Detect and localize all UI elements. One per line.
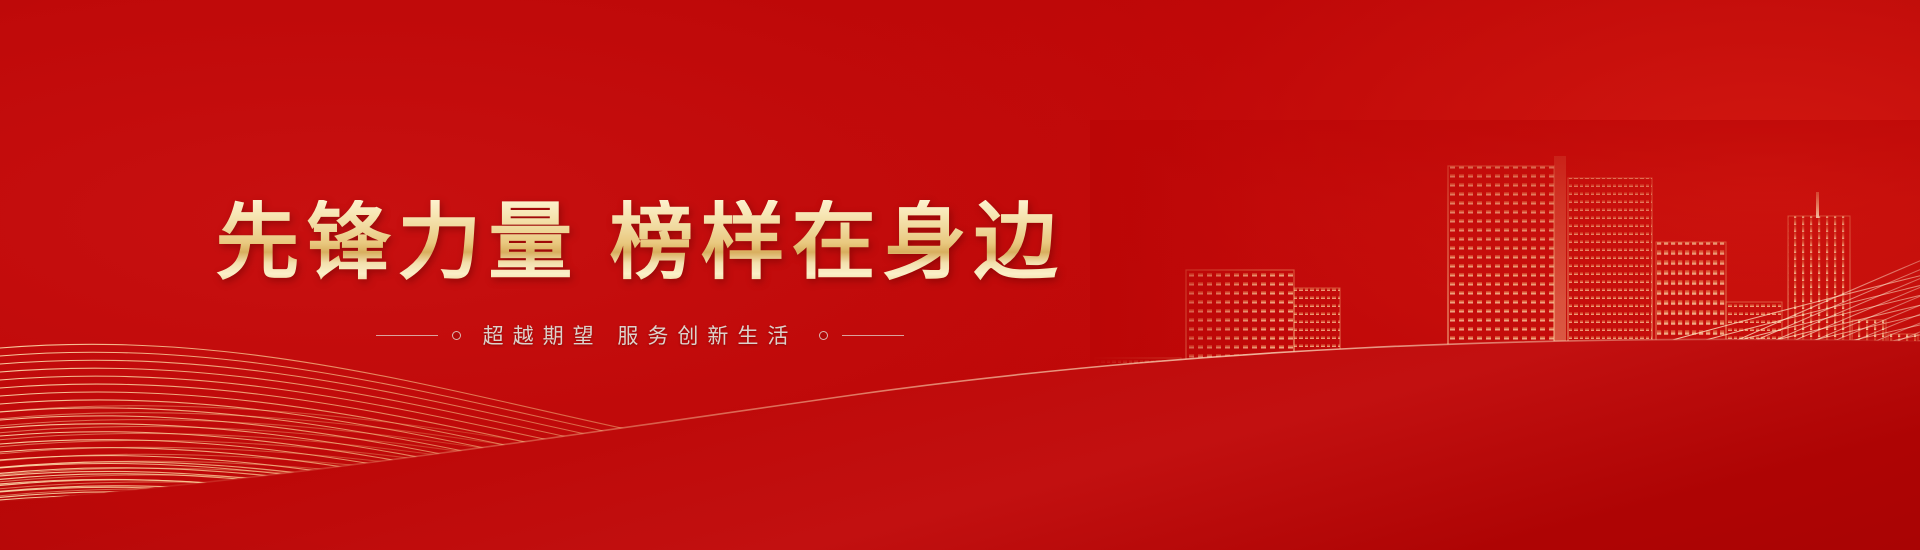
banner-subtitle: 超越期望 服务创新生活	[475, 320, 806, 350]
subtitle-row: 超越期望 服务创新生活	[376, 320, 905, 350]
left-rule-icon	[376, 335, 438, 336]
right-circle-marker-icon	[819, 331, 828, 340]
left-circle-marker-icon	[452, 331, 461, 340]
right-rule-icon	[842, 335, 904, 336]
page-title: 先锋力量 榜样在身边	[215, 200, 1064, 290]
promotional-banner: 先锋力量 榜样在身边 超越期望 服务创新生活	[0, 0, 1920, 550]
banner-text-block: 先锋力量 榜样在身边 超越期望 服务创新生活	[0, 0, 1270, 550]
